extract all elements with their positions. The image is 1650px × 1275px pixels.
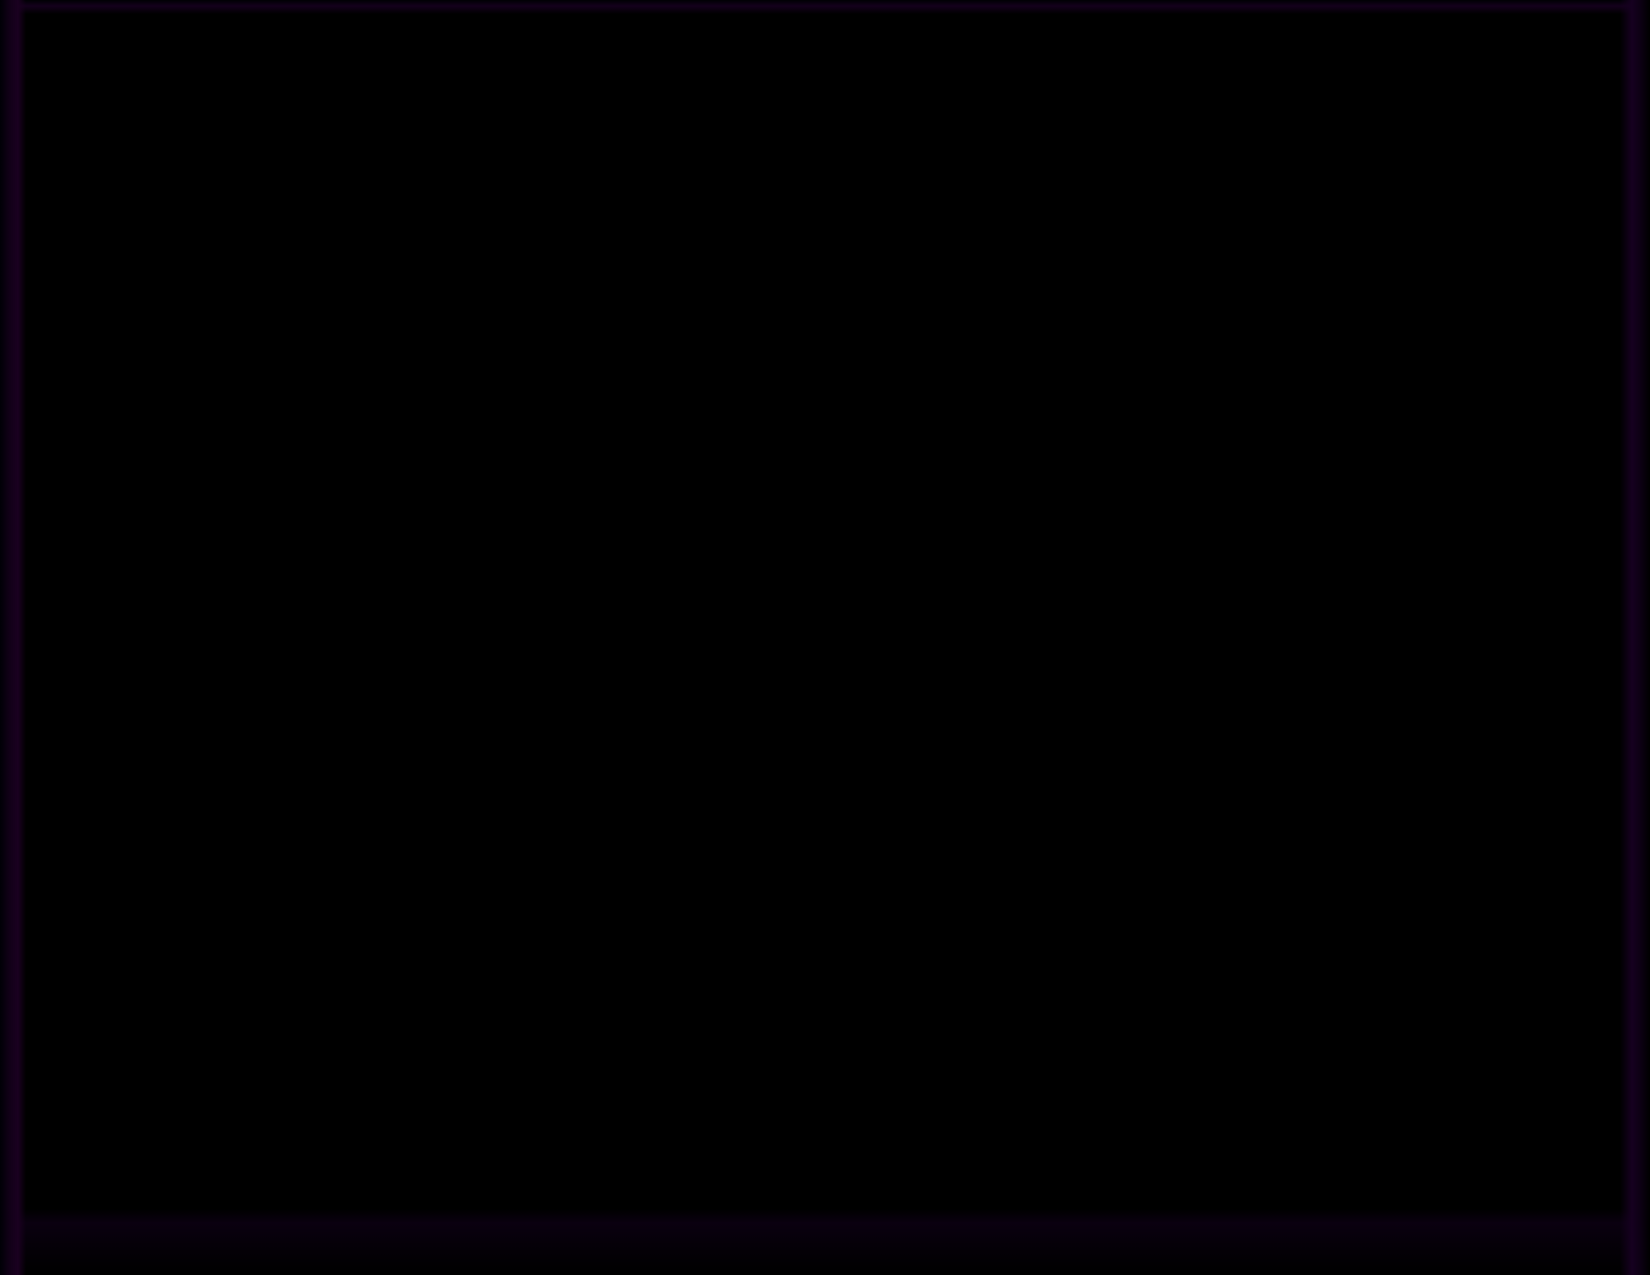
glow-blotch [107, 56, 437, 86]
citation-paren-open: (NASB [1254, 499, 1501, 587]
glow-edge-left [22, 12, 112, 98]
verse-slide: Now may our Lord Jesus Christ Himself an… [0, 0, 1650, 1275]
verse-text-block: Now may our Lord Jesus Christ Himself an… [107, 130, 1577, 587]
citation-row: — 2 Thessalonians 2:16 (NASB®) [107, 488, 1577, 587]
glow-blotch [722, 54, 1082, 86]
citation-translation: (NASB®) [1254, 488, 1557, 587]
registered-trademark-icon: ® [1501, 508, 1531, 554]
citation-reference: 2 Thessalonians 2:16 [531, 499, 1254, 587]
verse-citation: — 2 Thessalonians 2:16 (NASB®) [462, 488, 1522, 587]
glow-blotch [567, 40, 625, 86]
verse-line-1: Now may our Lord Jesus Christ Himself [107, 130, 1408, 217]
slide-artwork: Now may our Lord Jesus Christ Himself an… [22, 12, 1627, 1214]
verse-line-2: and God our Father, who has loved us and [107, 217, 1408, 304]
glow-blotch [1262, 54, 1492, 84]
top-edge-sliver [22, 12, 1627, 20]
verse-line-4: by grace, [107, 391, 1408, 478]
top-glow-bar [22, 12, 1627, 98]
citation-paren-close: ) [1531, 499, 1557, 587]
glow-edge-right [1537, 12, 1627, 98]
verse-line-3: given us eternal comfort and good hope [107, 304, 1408, 391]
citation-dash: — [462, 499, 531, 587]
